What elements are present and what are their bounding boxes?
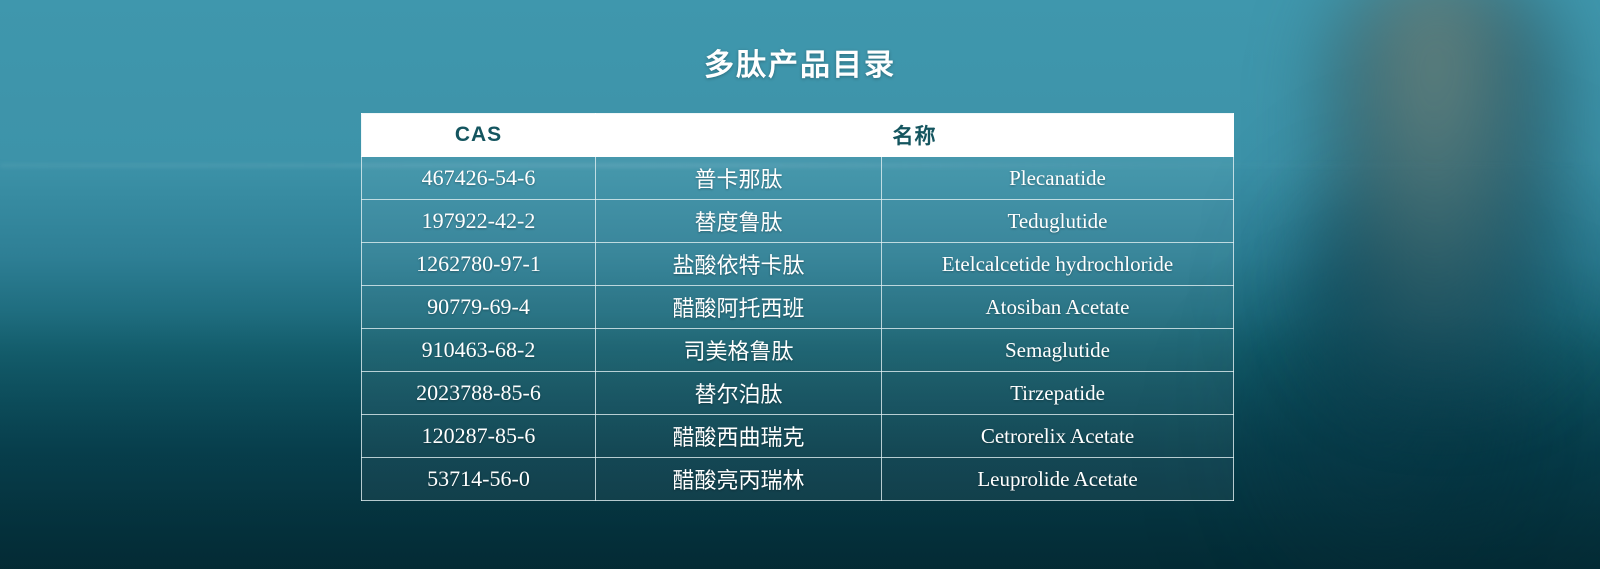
cell-name-en: Leuprolide Acetate <box>882 458 1234 501</box>
table-row: 53714-56-0醋酸亮丙瑞林Leuprolide Acetate <box>362 458 1234 501</box>
column-header-name: 名称 <box>596 114 1234 157</box>
table-body: 467426-54-6普卡那肽Plecanatide197922-42-2替度鲁… <box>362 157 1234 501</box>
cell-name-en: Cetrorelix Acetate <box>882 415 1234 458</box>
cell-cas: 197922-42-2 <box>362 200 596 243</box>
cell-name-zh: 替尔泊肽 <box>596 372 882 415</box>
cell-name-en: Semaglutide <box>882 329 1234 372</box>
cell-name-zh: 醋酸亮丙瑞林 <box>596 458 882 501</box>
cell-name-zh: 普卡那肽 <box>596 157 882 200</box>
page-title: 多肽产品目录 <box>0 40 1600 84</box>
cell-name-zh: 司美格鲁肽 <box>596 329 882 372</box>
table-row: 910463-68-2司美格鲁肽Semaglutide <box>362 329 1234 372</box>
table-row: 120287-85-6醋酸西曲瑞克Cetrorelix Acetate <box>362 415 1234 458</box>
cell-name-en: Teduglutide <box>882 200 1234 243</box>
cell-cas: 467426-54-6 <box>362 157 596 200</box>
table-row: 1262780-97-1盐酸依特卡肽Etelcalcetide hydrochl… <box>362 243 1234 286</box>
cell-name-en: Plecanatide <box>882 157 1234 200</box>
table-row: 2023788-85-6替尔泊肽Tirzepatide <box>362 372 1234 415</box>
cell-name-en: Tirzepatide <box>882 372 1234 415</box>
cell-cas: 910463-68-2 <box>362 329 596 372</box>
table-row: 197922-42-2替度鲁肽Teduglutide <box>362 200 1234 243</box>
product-catalog-table-wrapper: CAS 名称 467426-54-6普卡那肽Plecanatide197922-… <box>361 113 1233 501</box>
cell-cas: 120287-85-6 <box>362 415 596 458</box>
product-catalog-table: CAS 名称 467426-54-6普卡那肽Plecanatide197922-… <box>361 113 1234 501</box>
cell-cas: 90779-69-4 <box>362 286 596 329</box>
cell-cas: 53714-56-0 <box>362 458 596 501</box>
cell-name-zh: 醋酸阿托西班 <box>596 286 882 329</box>
cell-name-zh: 盐酸依特卡肽 <box>596 243 882 286</box>
table-row: 467426-54-6普卡那肽Plecanatide <box>362 157 1234 200</box>
cell-name-zh: 醋酸西曲瑞克 <box>596 415 882 458</box>
table-header: CAS 名称 <box>362 114 1234 157</box>
cell-cas: 1262780-97-1 <box>362 243 596 286</box>
cell-name-en: Atosiban Acetate <box>882 286 1234 329</box>
cell-name-zh: 替度鲁肽 <box>596 200 882 243</box>
table-header-row: CAS 名称 <box>362 114 1234 157</box>
cell-name-en: Etelcalcetide hydrochloride <box>882 243 1234 286</box>
poster-canvas: 多肽产品目录 CAS 名称 467426-54-6普卡那肽Plecanatide… <box>0 0 1600 569</box>
table-row: 90779-69-4醋酸阿托西班Atosiban Acetate <box>362 286 1234 329</box>
cell-cas: 2023788-85-6 <box>362 372 596 415</box>
column-header-cas: CAS <box>362 114 596 157</box>
